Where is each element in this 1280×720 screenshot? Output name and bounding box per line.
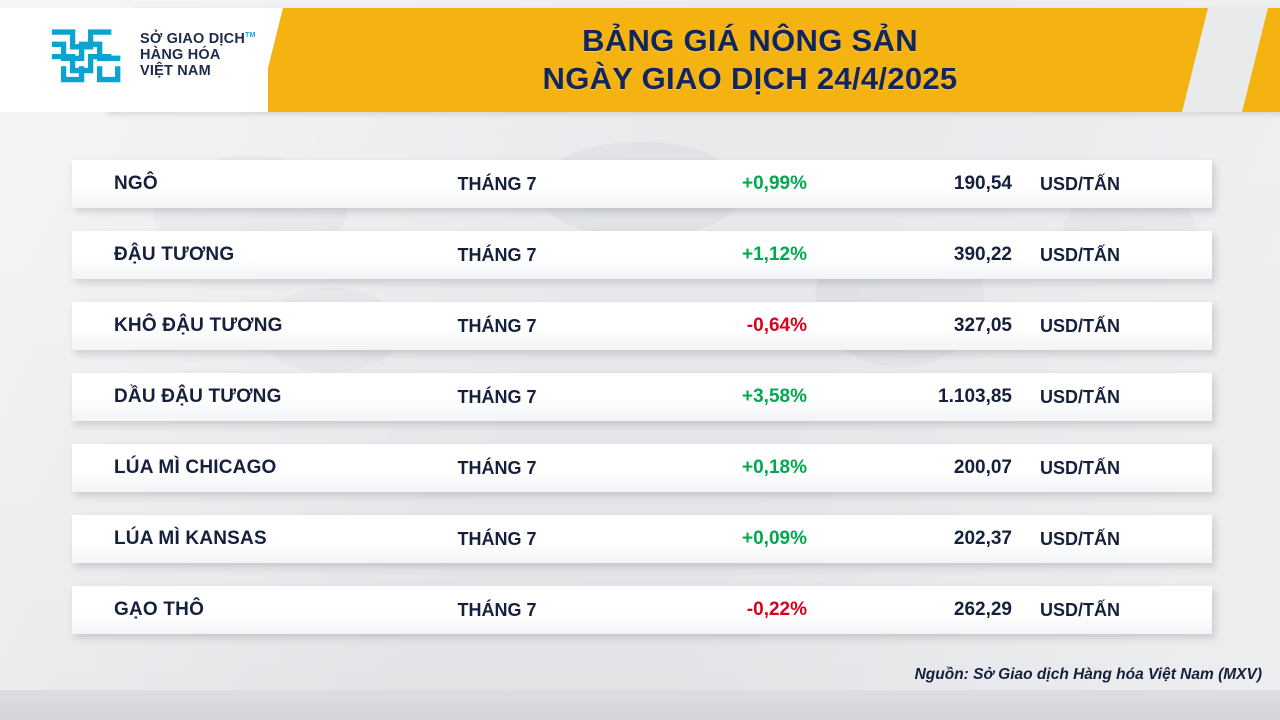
- commodity-name: KHÔ ĐẬU TƯƠNG: [72, 315, 402, 337]
- price-unit: USD/TẤN: [1012, 529, 1212, 550]
- commodity-name: LÚA MÌ CHICAGO: [72, 457, 402, 479]
- contract-month: THÁNG 7: [402, 174, 592, 195]
- price-unit: USD/TẤN: [1012, 316, 1212, 337]
- commodity-price-table: NGÔ THÁNG 7 +0,99% 190,54 USD/TẤN ĐẬU TƯ…: [72, 160, 1212, 634]
- price-value: 262,29: [807, 599, 1012, 621]
- price-value: 1.103,85: [807, 386, 1012, 408]
- page-title-line-1: BẢNG GIÁ NÔNG SẢN: [300, 22, 1200, 60]
- contract-month: THÁNG 7: [402, 600, 592, 621]
- price-value: 327,05: [807, 315, 1012, 337]
- price-change: +3,58%: [592, 386, 807, 408]
- price-unit: USD/TẤN: [1012, 458, 1212, 479]
- table-row: KHÔ ĐẬU TƯƠNG THÁNG 7 -0,64% 327,05 USD/…: [72, 302, 1212, 350]
- brand-name: SỞ GIAO DỊCHTM HÀNG HÓA VIỆT NAM: [140, 31, 256, 80]
- price-change: -0,64%: [592, 315, 807, 337]
- page-title: BẢNG GIÁ NÔNG SẢN NGÀY GIAO DỊCH 24/4/20…: [300, 22, 1200, 99]
- table-row: NGÔ THÁNG 7 +0,99% 190,54 USD/TẤN: [72, 160, 1212, 208]
- price-change: +0,99%: [592, 173, 807, 195]
- price-unit: USD/TẤN: [1012, 600, 1212, 621]
- price-value: 200,07: [807, 457, 1012, 479]
- page-title-line-2: NGÀY GIAO DỊCH 24/4/2025: [300, 60, 1200, 98]
- contract-month: THÁNG 7: [402, 458, 592, 479]
- price-change: -0,22%: [592, 599, 807, 621]
- price-change: +0,09%: [592, 528, 807, 550]
- price-change: +0,18%: [592, 457, 807, 479]
- source-note: Nguồn: Sở Giao dịch Hàng hóa Việt Nam (M…: [915, 666, 1262, 684]
- commodity-name: LÚA MÌ KANSAS: [72, 528, 402, 550]
- brand-line-3: VIỆT NAM: [140, 63, 211, 79]
- table-row: DẦU ĐẬU TƯƠNG THÁNG 7 +3,58% 1.103,85 US…: [72, 373, 1212, 421]
- price-unit: USD/TẤN: [1012, 174, 1212, 195]
- price-value: 190,54: [807, 173, 1012, 195]
- price-value: 390,22: [807, 244, 1012, 266]
- table-row: ĐẬU TƯƠNG THÁNG 7 +1,12% 390,22 USD/TẤN: [72, 231, 1212, 279]
- contract-month: THÁNG 7: [402, 245, 592, 266]
- contract-month: THÁNG 7: [402, 316, 592, 337]
- table-row: LÚA MÌ KANSAS THÁNG 7 +0,09% 202,37 USD/…: [72, 515, 1212, 563]
- brand-line-2: HÀNG HÓA: [140, 47, 221, 63]
- price-value: 202,37: [807, 528, 1012, 550]
- brand-logo: SỞ GIAO DỊCHTM HÀNG HÓA VIỆT NAM: [48, 22, 256, 88]
- price-unit: USD/TẤN: [1012, 245, 1212, 266]
- brand-trademark: TM: [245, 32, 256, 39]
- table-row: LÚA MÌ CHICAGO THÁNG 7 +0,18% 200,07 USD…: [72, 444, 1212, 492]
- price-unit: USD/TẤN: [1012, 387, 1212, 408]
- contract-month: THÁNG 7: [402, 529, 592, 550]
- page-header: SỞ GIAO DỊCHTM HÀNG HÓA VIỆT NAM BẢNG GI…: [0, 0, 1280, 120]
- price-change: +1,12%: [592, 244, 807, 266]
- commodity-name: GẠO THÔ: [72, 599, 402, 621]
- commodity-name: NGÔ: [72, 173, 402, 195]
- mxv-weave-logo-icon: [48, 22, 130, 88]
- commodity-name: DẦU ĐẬU TƯƠNG: [72, 386, 402, 408]
- footer-bar: [0, 690, 1280, 720]
- commodity-name: ĐẬU TƯƠNG: [72, 244, 402, 266]
- brand-line-1: SỞ GIAO DỊCH: [140, 31, 245, 47]
- contract-month: THÁNG 7: [402, 387, 592, 408]
- table-row: GẠO THÔ THÁNG 7 -0,22% 262,29 USD/TẤN: [72, 586, 1212, 634]
